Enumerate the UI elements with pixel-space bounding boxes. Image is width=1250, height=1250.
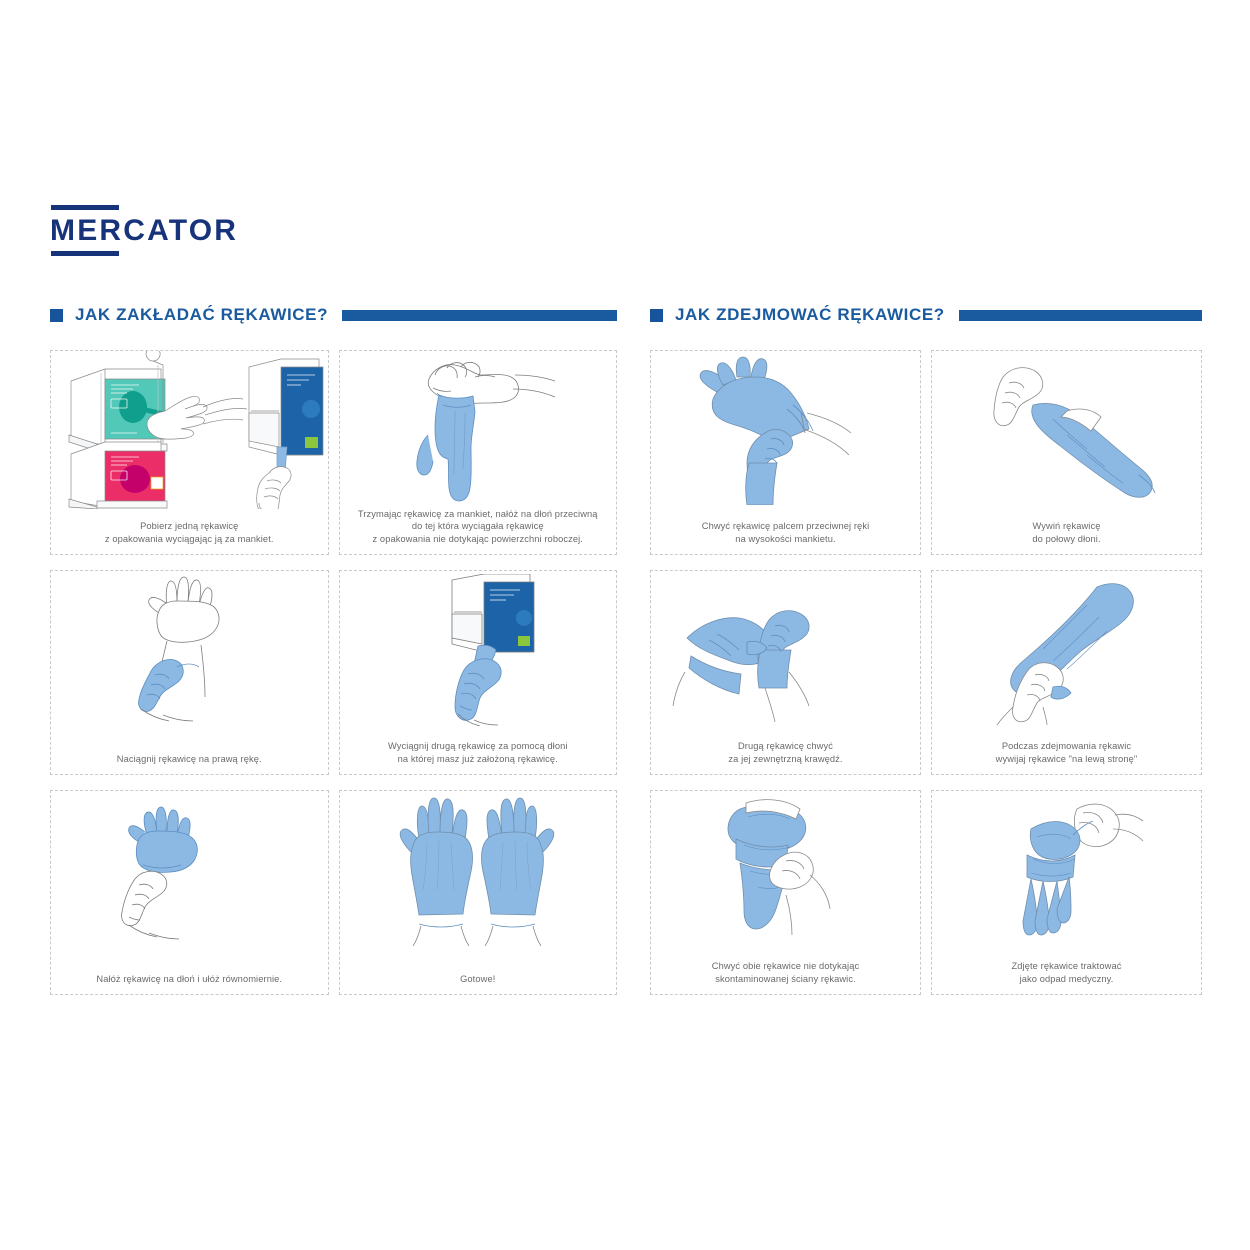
caption-line: Nałóż rękawicę na dłoń i ułóż równomiern… [51,973,328,986]
caption-line: do tej która wyciągała rękawicę [340,520,617,533]
turn-glove-inside-out-illustration [932,571,1201,728]
caption-line: Zdjęte rękawice traktować [932,960,1201,973]
step-panel: Chwyć obie rękawice nie dotykając skonta… [650,790,921,995]
section-header-doffing: JAK ZDEJMOWAĆ RĘKAWICE? [650,303,1202,327]
hand-holding-glove-by-cuff-illustration [340,351,617,508]
caption-line: Pobierz jedną rękawicę [51,520,328,533]
gloved-hand-pulling-from-box-illustration [340,571,617,728]
step-caption: Naciągnij rękawicę na prawą rękę. [51,753,328,775]
glove-boxes-dispenser-illustration [51,351,328,508]
steps-grid-donning: Pobierz jedną rękawicę z opakowania wyci… [50,350,617,995]
step-caption: Chwyć obie rękawice nie dotykając skonta… [651,960,920,994]
caption-line: jako odpad medyczny. [932,973,1201,986]
adjusting-glove-on-hand-illustration [51,791,328,948]
logo-bar-top [51,205,119,210]
caption-line: Naciągnij rękawicę na prawą rękę. [51,753,328,766]
caption-line: skontaminowanej ściany rękawic. [651,973,920,986]
step-caption: Nałóż rękawicę na dłoń i ułóż równomiern… [51,973,328,995]
caption-line: na wysokości mankietu. [651,533,920,546]
grip-second-glove-outer-edge-illustration [651,571,920,728]
caption-line: Wywiń rękawicę [932,520,1201,533]
section-header-donning: JAK ZAKŁADAĆ RĘKAWICE? [50,303,617,327]
step-caption: Podczas zdejmowania rękawic wywijaj ręka… [932,740,1201,774]
roll-glove-to-mid-palm-illustration [932,351,1201,508]
step-panel: Gotowe! [339,790,618,995]
caption-line: Chwyć rękawicę palcem przeciwnej ręki [651,520,920,533]
step-panel: Nałóż rękawicę na dłoń i ułóż równomiern… [50,790,329,995]
logo-wordmark: MERCATOR [50,215,310,247]
step-panel: Chwyć rękawicę palcem przeciwnej ręki na… [650,350,921,555]
caption-line: Chwyć obie rękawice nie dotykając [651,960,920,973]
caption-line: Podczas zdejmowania rękawic [932,740,1201,753]
step-panel: Wyciągnij drugą rękawicę za pomocą dłoni… [339,570,618,775]
step-panel: Trzymając rękawicę za mankiet, nałóż na … [339,350,618,555]
step-caption: Drugą rękawicę chwyć za jej zewnętrzną k… [651,740,920,774]
header-rule [342,310,617,321]
step-caption: Wywiń rękawicę do połowy dłoni. [932,520,1201,554]
step-panel: Drugą rękawicę chwyć za jej zewnętrzną k… [650,570,921,775]
caption-line: do połowy dłoni. [932,533,1201,546]
grip-glove-at-cuff-illustration [651,351,920,508]
discard-gloves-medical-waste-illustration [932,791,1201,948]
pulling-glove-onto-right-hand-illustration [51,571,328,728]
hold-both-gloves-illustration [651,791,920,948]
step-panel: Wywiń rękawicę do połowy dłoni. [931,350,1202,555]
square-bullet-icon [650,309,663,322]
caption-line: Gotowe! [340,973,617,986]
caption-line: Wyciągnij drugą rękawicę za pomocą dłoni [340,740,617,753]
header-rule [959,310,1202,321]
step-caption: Gotowe! [340,973,617,995]
step-caption: Trzymając rękawicę za mankiet, nałóż na … [340,508,617,555]
section-title-donning: JAK ZAKŁADAĆ RĘKAWICE? [75,305,328,325]
step-panel: Pobierz jedną rękawicę z opakowania wyci… [50,350,329,555]
step-caption: Chwyć rękawicę palcem przeciwnej ręki na… [651,520,920,554]
caption-line: na której masz już założoną rękawicę. [340,753,617,766]
step-caption: Zdjęte rękawice traktować jako odpad med… [932,960,1201,994]
step-panel: Zdjęte rękawice traktować jako odpad med… [931,790,1202,995]
caption-line: wywijaj rękawice "na lewą stronę" [932,753,1201,766]
square-bullet-icon [50,309,63,322]
logo-bar-bottom [51,251,119,256]
steps-grid-doffing: Chwyć rękawicę palcem przeciwnej ręki na… [650,350,1202,995]
section-title-doffing: JAK ZDEJMOWAĆ RĘKAWICE? [675,305,945,325]
caption-line: z opakowania wyciągając ją za mankiet. [51,533,328,546]
caption-line: Trzymając rękawicę za mankiet, nałóż na … [340,508,617,521]
brand-logo: MERCATOR [50,205,310,260]
caption-line: z opakowania nie dotykając powierzchni r… [340,533,617,546]
step-caption: Wyciągnij drugą rękawicę za pomocą dłoni… [340,740,617,774]
step-caption: Pobierz jedną rękawicę z opakowania wyci… [51,520,328,554]
caption-line: za jej zewnętrzną krawędź. [651,753,920,766]
step-panel: Naciągnij rękawicę na prawą rękę. [50,570,329,775]
caption-line: Drugą rękawicę chwyć [651,740,920,753]
two-gloved-hands-illustration [340,791,617,948]
step-panel: Podczas zdejmowania rękawic wywijaj ręka… [931,570,1202,775]
